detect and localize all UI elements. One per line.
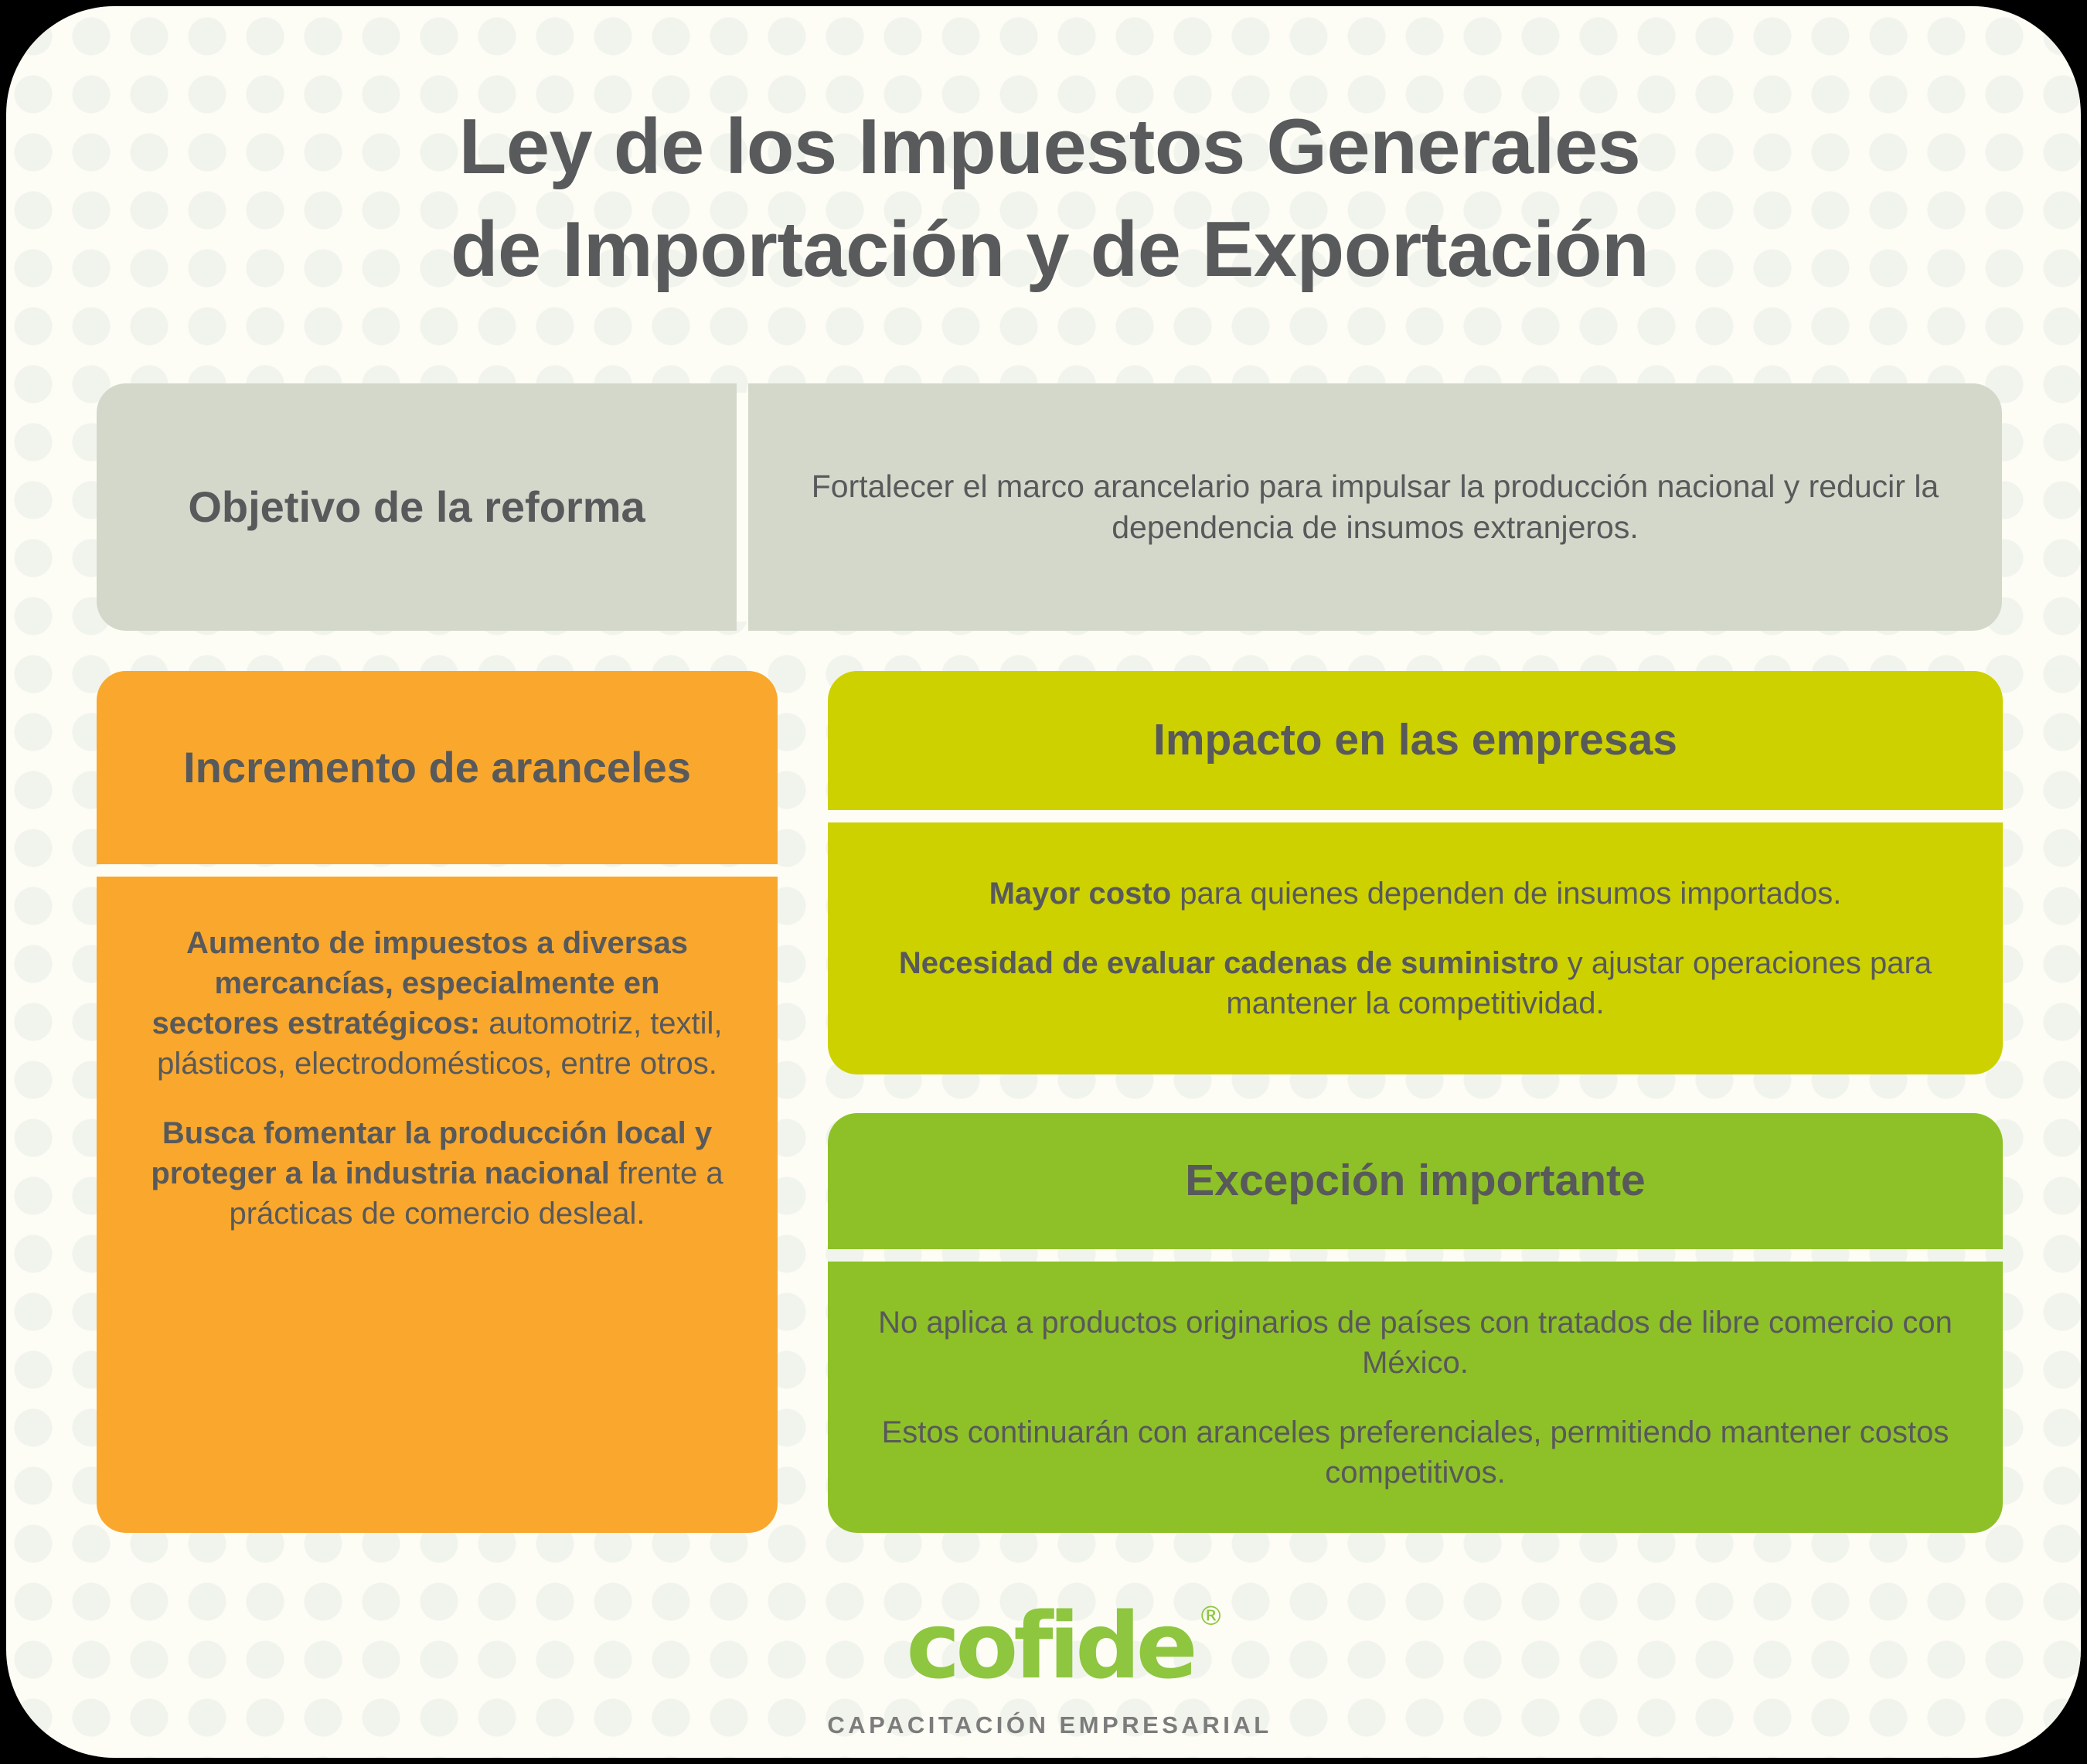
excepcion-paragraph-1: No aplica a productos originarios de paí… [874, 1303, 1956, 1383]
aranceles-header-text: Incremento de aranceles [183, 741, 691, 794]
objetivo-label-panel: Objetivo de la reforma [97, 383, 737, 631]
aranceles-paragraph-2: Busca fomentar la producción local y pro… [148, 1113, 727, 1234]
impacto-paragraph-2: Necesidad de evaluar cadenas de suminist… [874, 943, 1956, 1023]
brand-logo: cofide ® CAPACITACIÓN EMPRESARIAL [6, 1600, 2081, 1739]
logo-wordmark-text: cofide [906, 1592, 1193, 1699]
objetivo-body-text: Fortalecer el marco arancelario para imp… [802, 466, 1948, 549]
title-line-2: de Importación y de Exportación [6, 200, 2081, 300]
objetivo-label-text: Objetivo de la reforma [188, 481, 645, 533]
impacto-header-panel: Impacto en las empresas [828, 671, 2003, 810]
objetivo-body-panel: Fortalecer el marco arancelario para imp… [748, 383, 2002, 631]
logo-wordmark: cofide ® [906, 1600, 1193, 1691]
impacto-body-text: Mayor costo para quienes dependen de ins… [874, 873, 1956, 1023]
excepcion-paragraph-2: Estos continuarán con aranceles preferen… [874, 1412, 1956, 1493]
excepcion-header-text: Excepción importante [1185, 1154, 1645, 1208]
infographic-card: Ley de los Impuestos Generales de Import… [6, 6, 2081, 1758]
impacto-paragraph-1: Mayor costo para quienes dependen de ins… [874, 873, 1956, 914]
registered-trademark-icon: ® [1198, 1603, 1224, 1629]
excepcion-body-panel: No aplica a productos originarios de paí… [828, 1262, 2003, 1533]
aranceles-paragraph-1: Aumento de impuestos a diversas mercancí… [148, 923, 727, 1084]
title-line-1: Ley de los Impuestos Generales [6, 97, 2081, 197]
excepcion-body-text: No aplica a productos originarios de paí… [874, 1303, 1956, 1493]
objetivo-vertical-divider [737, 393, 748, 621]
impacto-header-text: Impacto en las empresas [1153, 713, 1677, 768]
excepcion-header-panel: Excepción importante [828, 1113, 2003, 1249]
page-title: Ley de los Impuestos Generales de Import… [6, 97, 2081, 301]
infographic-content: Ley de los Impuestos Generales de Import… [6, 6, 2081, 1758]
aranceles-body-panel: Aumento de impuestos a diversas mercancí… [97, 877, 778, 1533]
impacto-body-panel: Mayor costo para quienes dependen de ins… [828, 822, 2003, 1074]
logo-tagline: CAPACITACIÓN EMPRESARIAL [6, 1711, 2081, 1739]
aranceles-body-text: Aumento de impuestos a diversas mercancí… [148, 923, 727, 1234]
aranceles-header-panel: Incremento de aranceles [97, 671, 778, 864]
